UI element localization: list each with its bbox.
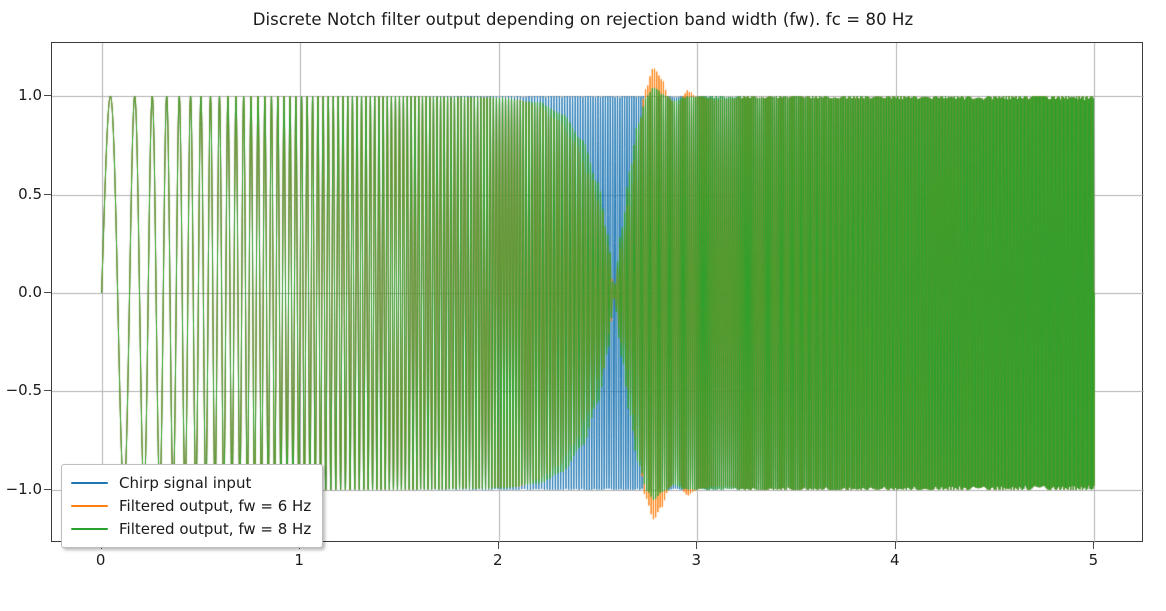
y-tick-mark [44,292,51,293]
legend-label: Filtered output, fw = 8 Hz [119,520,311,538]
y-tick-mark [44,95,51,96]
x-tick-label: 1 [279,551,319,569]
legend-color-swatch-chirp-input [71,482,108,484]
x-tick-label: 2 [478,551,518,569]
legend-label: Filtered output, fw = 6 Hz [119,497,311,515]
y-tick-label: −0.5 [0,381,42,399]
legend-color-swatch-fw-8hz [71,528,108,530]
y-tick-mark [44,489,51,490]
y-tick-label: 0.5 [0,185,42,203]
y-tick-label: 0.0 [0,283,42,301]
y-tick-label: −1.0 [0,480,42,498]
x-tick-mark [498,542,499,549]
legend-label: Chirp signal input [119,474,251,492]
x-tick-label: 3 [676,551,716,569]
x-tick-mark [895,542,896,549]
y-tick-mark [44,194,51,195]
x-tick-mark [696,542,697,549]
legend-item: Filtered output, fw = 6 Hz [71,494,311,517]
chart-title: Discrete Notch filter output depending o… [0,10,1166,29]
x-tick-label: 4 [875,551,915,569]
chart-legend: Chirp signal input Filtered output, fw =… [61,464,323,548]
matplotlib-figure: Discrete Notch filter output depending o… [0,0,1166,611]
x-tick-label: 0 [81,551,121,569]
x-tick-label: 5 [1073,551,1113,569]
x-tick-mark [1093,542,1094,549]
y-tick-label: 1.0 [0,86,42,104]
y-tick-mark [44,390,51,391]
legend-item: Filtered output, fw = 8 Hz [71,517,311,540]
legend-item: Chirp signal input [71,471,311,494]
legend-color-swatch-fw-6hz [71,505,108,507]
